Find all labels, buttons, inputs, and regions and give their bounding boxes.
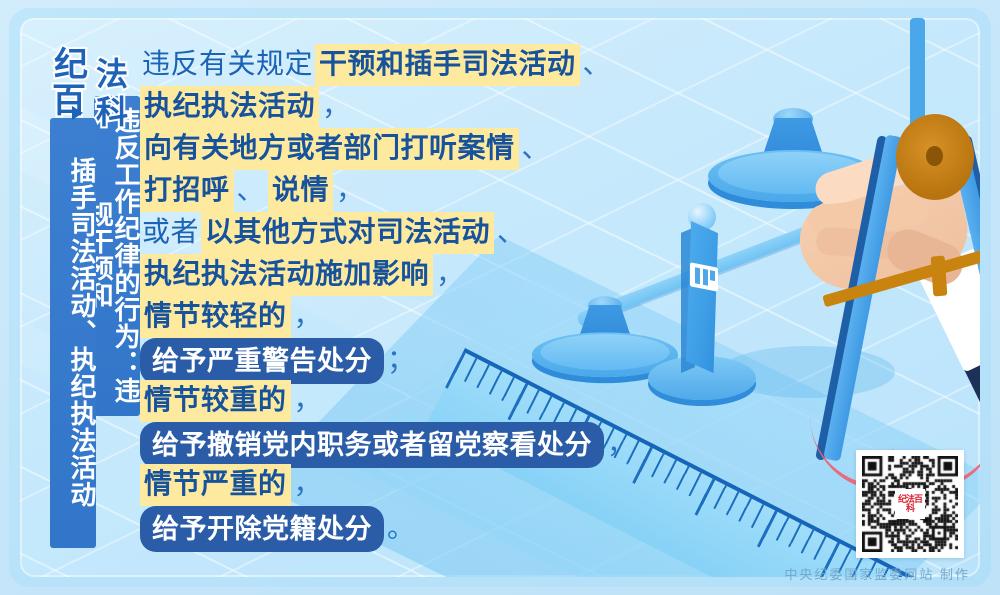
highlighted-phrase: 干预和插手司法活动: [315, 44, 580, 86]
regulation-line: 情节严重的，: [140, 464, 610, 502]
punctuation: ，: [319, 88, 354, 126]
punctuation: ，: [333, 172, 368, 210]
plain-phrase: 或者: [140, 214, 201, 252]
footer-credit: 中央纪委国家监委网站 制作: [784, 564, 970, 583]
regulation-line: 打招呼、说情，: [140, 170, 610, 208]
brand-logo: 纪 法 百 科: [52, 48, 136, 132]
highlighted-phrase: 说情: [268, 170, 333, 212]
plain-phrase: 违反有关规定: [140, 46, 315, 84]
qr-center-logo: 纪法百科: [895, 489, 925, 519]
regulation-line: 给予严重警告处分；: [140, 338, 610, 376]
highlighted-phrase: 打招呼: [140, 170, 234, 212]
vertical-title-column-right: 违反工作纪律的行为：违规干预和: [94, 96, 140, 416]
punctuation: ，: [291, 298, 326, 336]
punctuation: ，: [604, 426, 639, 464]
highlighted-phrase: 以其他方式对司法活动: [201, 212, 494, 254]
punctuation: 、: [234, 172, 269, 210]
highlighted-phrase: 情节严重的: [140, 464, 291, 506]
highlighted-phrase: 情节较轻的: [140, 296, 291, 338]
regulation-line: 给予撤销党内职务或者留党察看处分，: [140, 422, 610, 460]
highlighted-phrase: 情节较重的: [140, 380, 291, 422]
compass-hinge-disc: [896, 114, 974, 200]
poster: 纪 法 百 科 违反工作纪律的行为：违规干预和 插手司法活动、执纪执法活动 违反…: [0, 0, 1000, 595]
regulation-line: 执纪执法活动施加影响，: [140, 254, 610, 292]
sanction-badge: 给予撤销党内职务或者留党察看处分: [140, 422, 604, 468]
regulation-line: 或者以其他方式对司法活动、: [140, 212, 610, 250]
logo-char-2: 法: [96, 58, 128, 90]
punctuation: ，: [433, 256, 468, 294]
highlighted-phrase: 执纪执法活动施加影响: [140, 254, 433, 296]
logo-char-4: 科: [96, 96, 128, 128]
scale-pillar: [678, 203, 724, 378]
punctuation: ，: [291, 466, 326, 504]
compass-hinge-hole: [926, 146, 943, 166]
highlighted-phrase: 执纪执法活动: [140, 86, 319, 128]
punctuation: 、: [519, 130, 554, 168]
play-icon: [72, 106, 83, 120]
punctuation: ；: [384, 342, 419, 380]
scale-pillar-column: [686, 221, 718, 373]
qr-code[interactable]: 纪法百科: [856, 450, 964, 558]
regulation-line: 情节较轻的，: [140, 296, 610, 334]
compass-stem: [910, 18, 925, 128]
sanction-badge: 给予严重警告处分: [140, 338, 384, 384]
sanction-badge: 给予开除党籍处分: [140, 506, 384, 552]
punctuation: ，: [291, 382, 326, 420]
plate-mark: [703, 269, 708, 286]
vertical-title-banner: 违反工作纪律的行为：违规干预和 插手司法活动、执纪执法活动: [50, 96, 142, 536]
compass-crossbar-joint: [931, 256, 948, 297]
punctuation: 、: [580, 46, 615, 84]
plate-mark: [710, 270, 715, 281]
regulation-body-text: 违反有关规定干预和插手司法活动、执纪执法活动，向有关地方或者部门打听案情、打招呼…: [140, 44, 610, 548]
regulation-line: 执纪执法活动，: [140, 86, 610, 124]
punctuation: 、: [494, 214, 529, 252]
qr-center-logo-text: 纪法百科: [895, 495, 925, 513]
logo-char-1: 纪: [54, 48, 88, 82]
regulation-line: 给予开除党籍处分。: [140, 506, 610, 544]
regulation-line: 违反有关规定干预和插手司法活动、: [140, 44, 610, 82]
punctuation: 。: [384, 510, 419, 548]
regulation-line: 向有关地方或者部门打听案情、: [140, 128, 610, 166]
highlighted-phrase: 向有关地方或者部门打听案情: [140, 128, 519, 170]
regulation-line: 情节较重的，: [140, 380, 610, 418]
vertical-title-column-left: 插手司法活动、执纪执法活动: [50, 118, 96, 548]
plate-mark: [695, 267, 700, 284]
